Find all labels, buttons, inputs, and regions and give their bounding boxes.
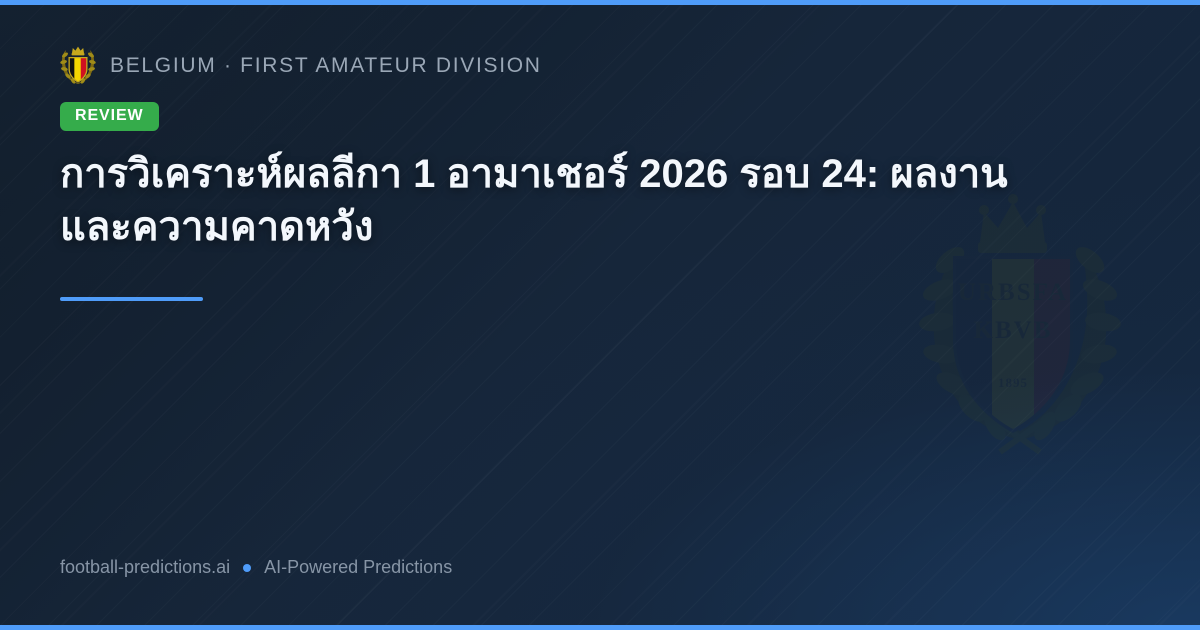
bottom-accent-bar (0, 625, 1200, 630)
league-header: BELGIUM · FIRST AMATEUR DIVISION (60, 46, 542, 86)
belgium-crest-mini-icon (60, 46, 96, 86)
svg-text:1895: 1895 (998, 375, 1028, 390)
footer: football-predictions.ai AI-Powered Predi… (60, 557, 452, 578)
league-label: BELGIUM · FIRST AMATEUR DIVISION (110, 54, 542, 78)
status-badge: REVIEW (60, 102, 159, 131)
title-accent-underline (60, 297, 203, 301)
footer-bullet-icon (243, 564, 251, 572)
page-title: การวิเคราะห์ผลลีกา 1 อามาเชอร์ 2026 รอบ … (60, 148, 1040, 254)
footer-site-name: football-predictions.ai (60, 557, 230, 578)
top-accent-bar (0, 0, 1200, 5)
footer-tagline: AI-Powered Predictions (264, 557, 452, 578)
og-card: URBSFA KBVB 1895 (0, 0, 1200, 630)
svg-text:URBSFA: URBSFA (958, 279, 1068, 306)
svg-text:KBVB: KBVB (974, 317, 1053, 344)
